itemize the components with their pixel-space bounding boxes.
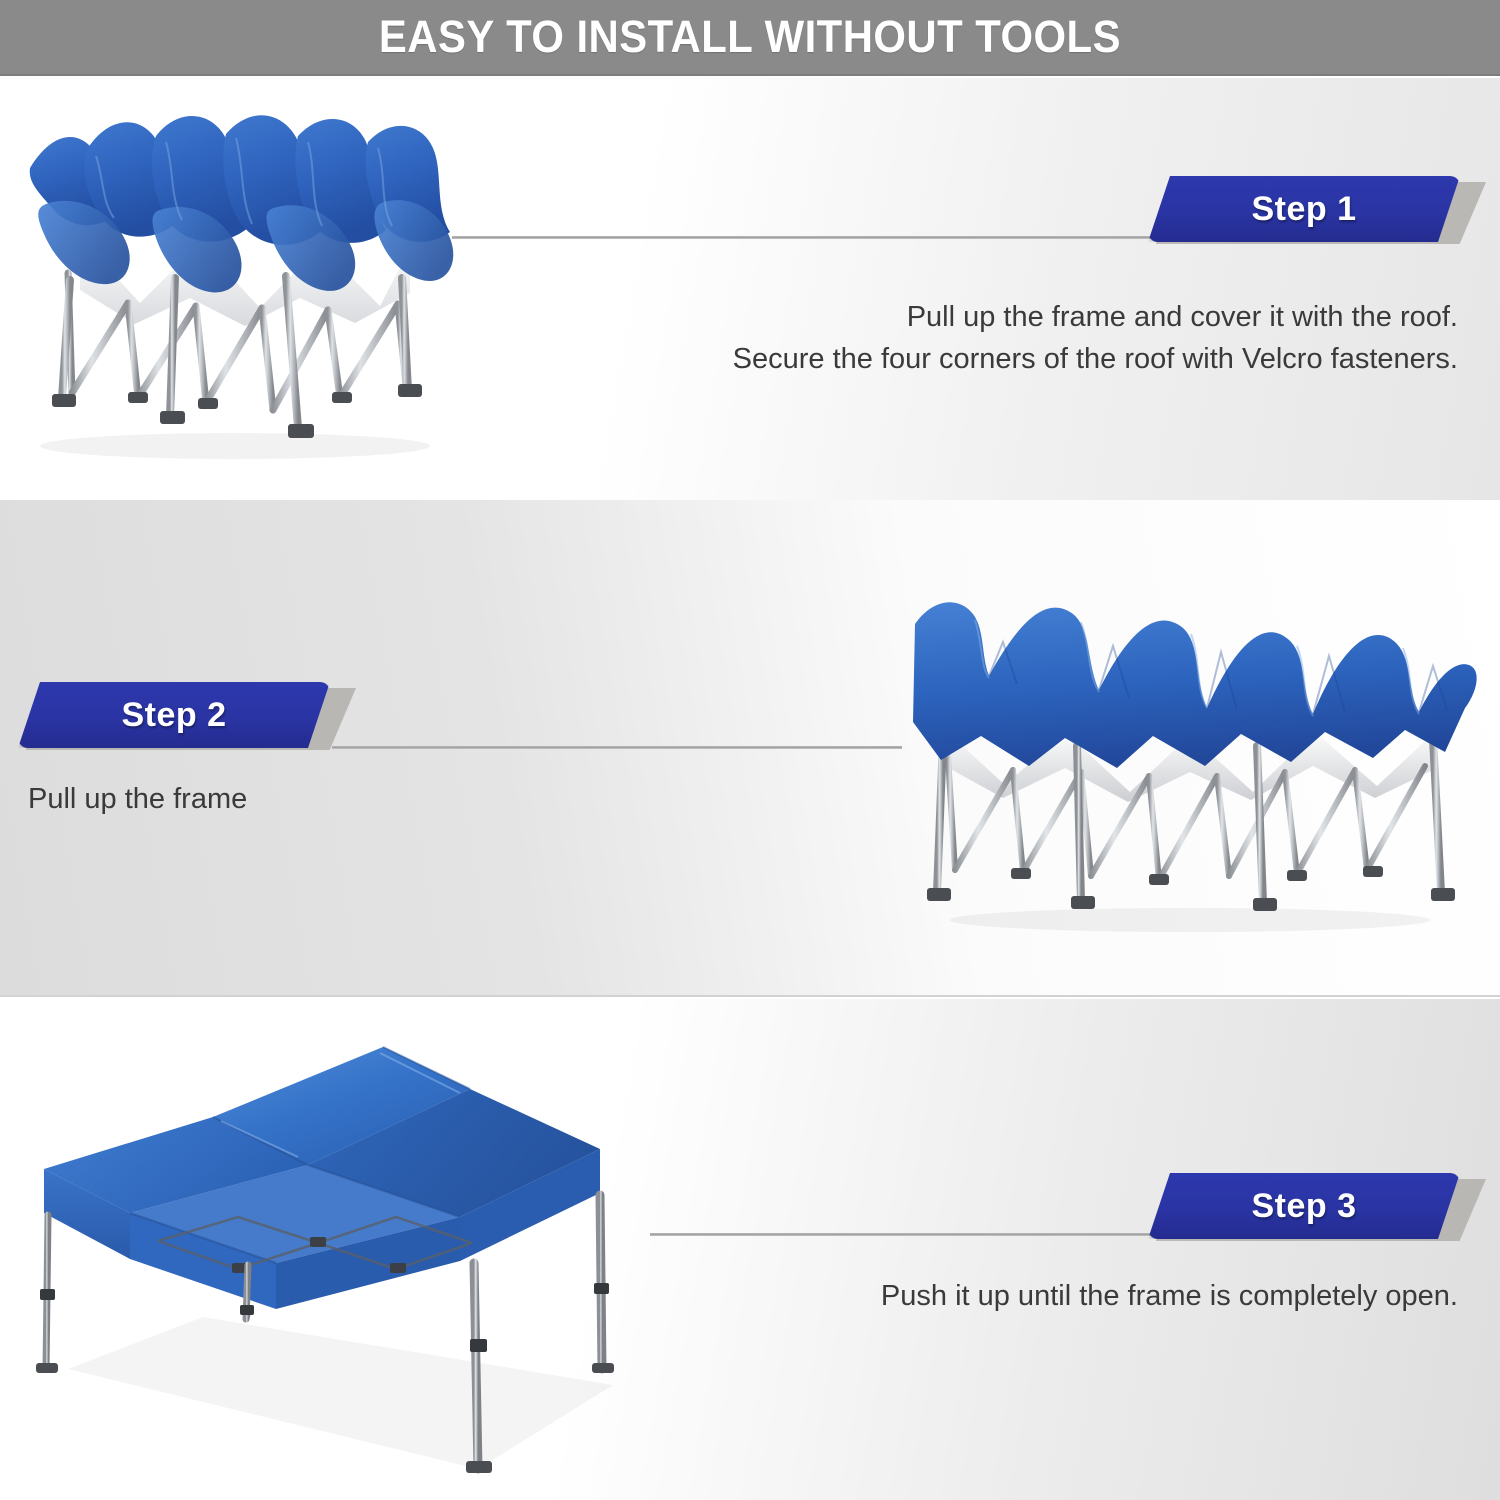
step-1-panel: Step 1 Pull up the frame and cover it wi… — [0, 78, 1500, 500]
infographic-page: EASY TO INSTALL WITHOUT TOOLS — [0, 0, 1500, 1500]
step-3-badge-label: Step 3 — [1251, 1187, 1356, 1226]
step-1-badge-label: Step 1 — [1251, 190, 1356, 229]
step-1-connector-line — [452, 236, 1152, 239]
step-2-panel: Step 2 Pull up the frame — [0, 500, 1500, 997]
step-1-line-2: Secure the four corners of the roof with… — [733, 338, 1458, 380]
step-2-badge-banner: Step 2 — [18, 682, 330, 748]
fully-open-canopy-image — [8, 1017, 648, 1487]
header-band: EASY TO INSTALL WITHOUT TOOLS — [0, 0, 1500, 76]
step-1-badge-banner: Step 1 — [1148, 176, 1460, 242]
step-3-panel: Step 3 Push it up until the frame is com… — [0, 999, 1500, 1500]
step-2-description: Pull up the frame — [28, 778, 247, 820]
step-1-line-1: Pull up the frame and cover it with the … — [733, 296, 1458, 338]
step-3-description: Push it up until the frame is completely… — [881, 1275, 1458, 1317]
step-3-badge-banner: Step 3 — [1148, 1173, 1460, 1239]
partially-extended-canopy-frame-image — [885, 580, 1495, 940]
step-1-description: Pull up the frame and cover it with the … — [733, 296, 1458, 380]
page-title: EASY TO INSTALL WITHOUT TOOLS — [379, 11, 1121, 63]
step-2-line-1: Pull up the frame — [28, 778, 247, 820]
step-2-connector-line — [332, 746, 902, 749]
step-2-badge-label: Step 2 — [121, 696, 226, 735]
step-3-line-1: Push it up until the frame is completely… — [881, 1275, 1458, 1317]
collapsed-canopy-with-roof-draped-image — [10, 98, 470, 468]
step-3-connector-line — [650, 1233, 1155, 1236]
